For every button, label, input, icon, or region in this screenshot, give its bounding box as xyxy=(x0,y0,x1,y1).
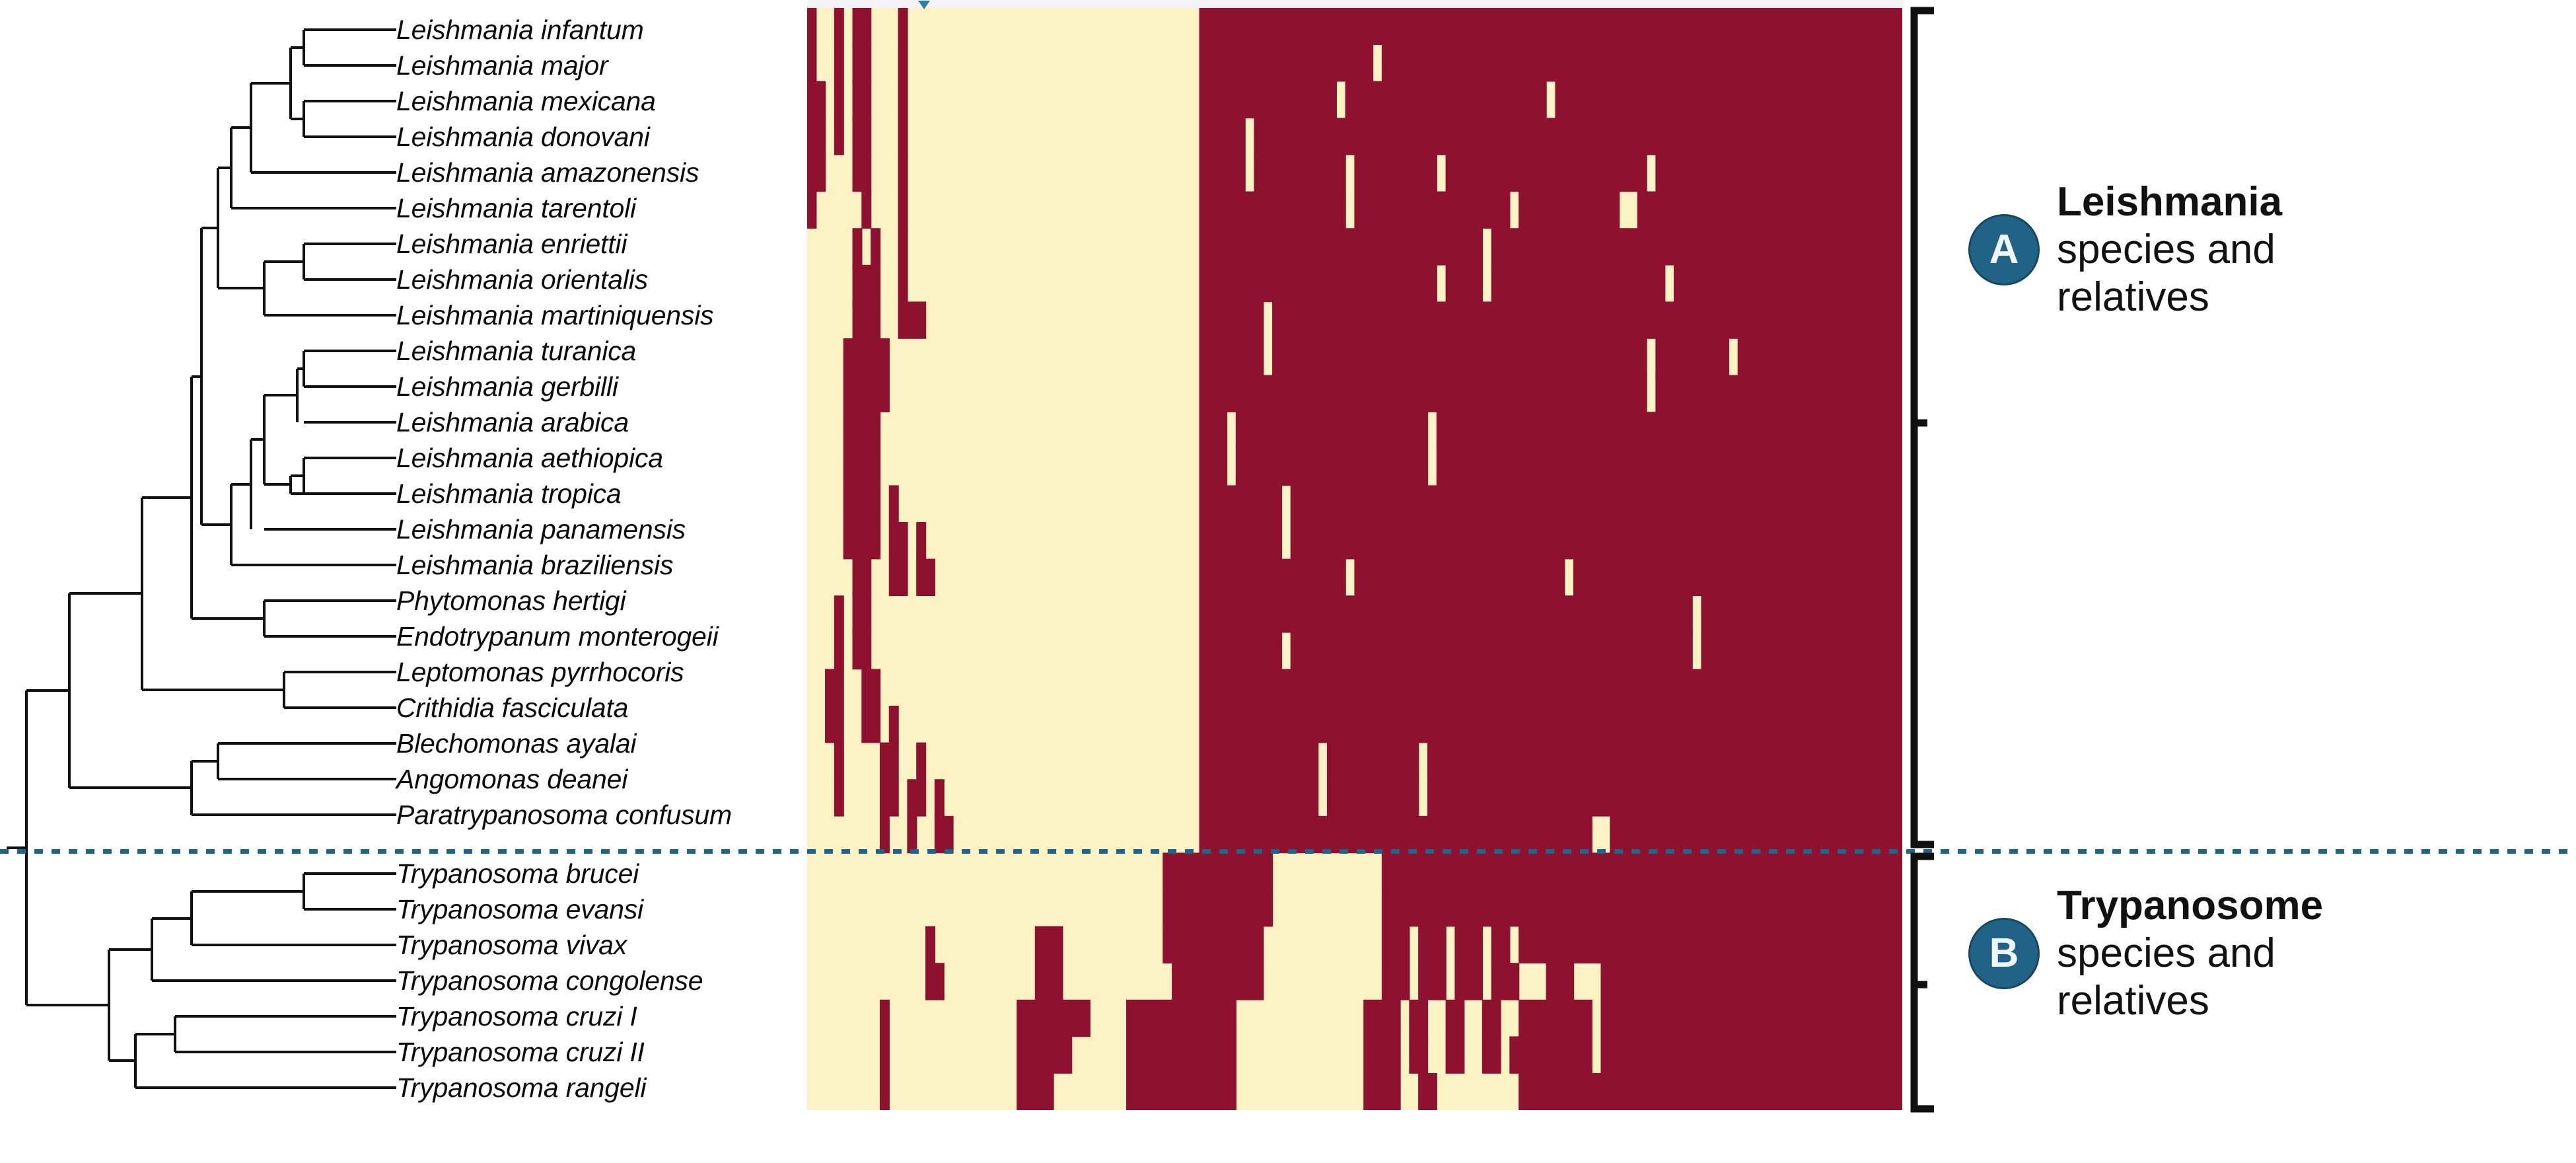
group-badge-a: A xyxy=(1968,214,2040,285)
taxon-label: Leishmania amazonensis xyxy=(396,155,699,190)
taxon-label: Trypanosoma brucei xyxy=(396,856,639,891)
taxon-label: Trypanosoma congolense xyxy=(396,963,703,998)
column-marker-icon xyxy=(918,1,930,9)
group-subtitle-b: species and relatives xyxy=(2057,930,2427,1025)
taxon-label: Leishmania arabica xyxy=(396,405,629,439)
group-title-b: Trypanosome xyxy=(2057,882,2427,930)
group-title-a: Leishmania xyxy=(2057,178,2427,226)
taxon-label: Leishmania enriettii xyxy=(396,227,627,261)
taxon-label: Leishmania tropica xyxy=(396,476,622,511)
taxon-label: Trypanosoma vivax xyxy=(396,928,627,962)
taxon-label: Crithidia fasciculata xyxy=(396,691,628,725)
taxon-label: Angomonas deanei xyxy=(396,762,627,796)
taxon-label: Paratrypanosoma confusum xyxy=(396,798,732,832)
taxon-label: Leishmania panamensis xyxy=(396,512,686,546)
taxon-label: Leishmania infantum xyxy=(396,13,644,47)
taxon-label: Trypanosoma cruzi I xyxy=(396,999,637,1033)
taxon-label: Leishmania mexicana xyxy=(396,84,656,118)
taxon-label: Trypanosoma evansi xyxy=(396,892,643,926)
taxon-label: Leishmania donovani xyxy=(396,120,650,154)
taxon-label: Leishmania orientalis xyxy=(396,262,648,297)
group-annotation-a: A Leishmania species and relatives xyxy=(1968,178,2427,321)
group-label-a: Leishmania species and relatives xyxy=(2057,178,2427,321)
taxon-label: Blechomonas ayalai xyxy=(396,726,636,761)
taxon-label: Leishmania turanica xyxy=(396,334,636,368)
taxon-label: Leishmania aethiopica xyxy=(396,441,663,475)
taxon-label: Leishmania major xyxy=(396,48,608,83)
clade-divider-line xyxy=(0,849,2576,854)
presence-absence-heatmap xyxy=(807,8,1902,1110)
taxon-label: Leishmania braziliensis xyxy=(396,548,673,582)
group-annotation-b: B Trypanosome species and relatives xyxy=(1968,882,2427,1025)
taxon-label: Phytomonas hertigi xyxy=(396,583,626,618)
bracket-group-a xyxy=(1914,11,1934,844)
taxon-label: Leishmania gerbilli xyxy=(396,369,618,404)
group-label-b: Trypanosome species and relatives xyxy=(2057,882,2427,1025)
taxon-label: Leishmania tarentoli xyxy=(396,191,636,225)
heatmap-matrix xyxy=(807,8,1902,1110)
heatmap-top-edge xyxy=(807,0,1904,8)
tree-branches xyxy=(7,30,396,1088)
taxon-label-list: Leishmania infantum Leishmania major Lei… xyxy=(396,0,806,1163)
taxon-label: Trypanosoma cruzi II xyxy=(396,1035,645,1069)
group-subtitle-a: species and relatives xyxy=(2057,226,2427,321)
taxon-label: Trypanosoma rangeli xyxy=(396,1070,646,1105)
taxon-label: Leishmania martiniquensis xyxy=(396,298,713,332)
taxon-label: Endotrypanum monterogeii xyxy=(396,619,718,654)
taxon-label: Leptomonas pyrrhocoris xyxy=(396,655,684,689)
group-badge-b: B xyxy=(1968,918,2040,989)
phylogeny-heatmap-figure: Leishmania infantum Leishmania major Lei… xyxy=(0,0,2576,1163)
